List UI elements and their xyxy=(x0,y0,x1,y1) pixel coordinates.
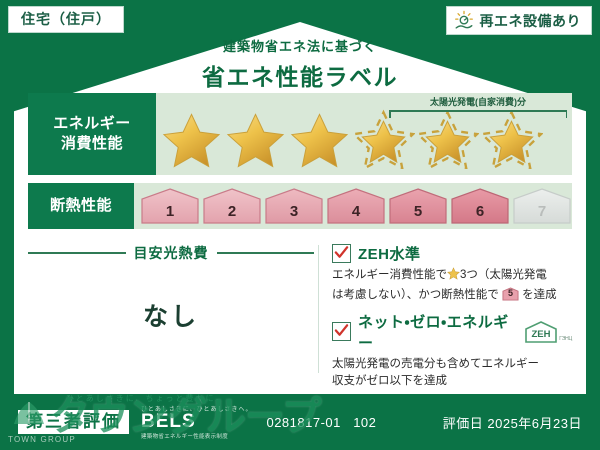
bels-logo-word: BELS xyxy=(141,413,252,431)
energy-performance-key: エネルギー 消費性能 xyxy=(28,93,156,175)
evaluation-date: 評価日 2025年6月23日 xyxy=(443,413,582,432)
energy-performance-row: エネルギー 消費性能 太陽光発電(自家消費)分 xyxy=(28,93,572,175)
checkbox-checked-icon xyxy=(332,322,351,341)
energy-key-line1: エネルギー xyxy=(53,114,131,134)
certificate-id: 0281817-01 102 xyxy=(266,415,376,430)
svg-text:ZEH: ZEH xyxy=(532,329,551,340)
criterion-description: 太陽光発電の売電分も含めてエネルギー収支がゼロ以下を達成 xyxy=(332,356,572,392)
energy-performance-label: 住宅（住戸） 再エネ設備あり 建築物省エネ法に基づく 省エネ性能ラベル xyxy=(0,0,600,450)
label-title-block: 建築物省エネ法に基づく 省エネ性能ラベル xyxy=(0,36,600,92)
energy-performance-value: 太陽光発電(自家消費)分 xyxy=(156,93,572,175)
utility-cost-heading: 目安光熱費 xyxy=(28,243,314,263)
insulation-level-number: 7 xyxy=(512,203,572,220)
building-type-tag: 住宅（住戸） xyxy=(8,6,124,33)
third-party-evaluation-badge: 第三者評価 xyxy=(18,410,129,434)
insulation-level-number: 2 xyxy=(202,203,262,220)
insulation-level-house: 4 xyxy=(326,188,386,224)
label-title: 省エネ性能ラベル xyxy=(0,58,600,92)
star-solar-dashed xyxy=(416,109,479,169)
label-subtitle: 建築物省エネ法に基づく xyxy=(0,36,600,55)
criterion-desc-line1: 太陽光発電の売電分も含めてエネルギー xyxy=(332,358,539,370)
utility-cost-value: なし xyxy=(28,297,314,333)
heading-rule-left xyxy=(28,252,126,254)
insulation-level-inline-badge: 5 xyxy=(502,287,519,301)
insulation-level-number: 6 xyxy=(450,203,510,220)
insulation-performance-value: 1 2 3 xyxy=(134,183,572,229)
insulation-level-house: 6 xyxy=(450,188,510,224)
renewable-energy-badge: 再エネ設備あり xyxy=(446,6,593,35)
heading-rule-right xyxy=(217,252,315,254)
insulation-level-scale: 1 2 3 xyxy=(140,188,572,224)
sun-solar-icon xyxy=(453,10,475,32)
criterion-desc-part1: エネルギー消費性能で xyxy=(332,269,447,281)
insulation-level-number: 3 xyxy=(264,203,324,220)
energy-key-line2: 消費性能 xyxy=(61,134,123,154)
insulation-performance-row: 断熱性能 1 xyxy=(28,183,572,229)
star-icon-inline xyxy=(447,271,460,283)
criterion-title: ネット・ゼロ・エネルギー xyxy=(358,311,515,353)
inline-house-number: 5 xyxy=(502,287,519,301)
criterion-net-zero-energy: ネット・ゼロ・エネルギー ZEH ГЭНЦ 太陽光発電の売電分も含めてエネルギー… xyxy=(332,311,572,392)
star-solar-dashed xyxy=(352,109,415,169)
utility-cost-block: 目安光熱費 なし xyxy=(28,243,314,391)
zeh-logo-subtext: ГЭНЦ xyxy=(559,336,572,344)
renewable-energy-badge-label: 再エネ設備あり xyxy=(480,11,582,31)
insulation-level-house: 2 xyxy=(202,188,262,224)
insulation-level-number: 4 xyxy=(326,203,386,220)
evaluation-date-label: 評価日 xyxy=(443,416,484,431)
star-filled xyxy=(288,109,351,169)
criteria-block: ZEH水準 エネルギー消費性能で3つ（太陽光発電は考慮しない）、かつ断熱性能で … xyxy=(314,243,572,391)
insulation-key-label: 断熱性能 xyxy=(50,196,112,216)
criterion-description: エネルギー消費性能で3つ（太陽光発電は考慮しない）、かつ断熱性能で 5 を達成 xyxy=(332,267,572,305)
vertical-divider xyxy=(318,245,319,373)
criterion-desc-part2: は考慮しない）、かつ断熱性能で xyxy=(332,289,499,301)
insulation-level-house: 5 xyxy=(388,188,448,224)
star-solar-dashed xyxy=(480,109,543,169)
insulation-level-house-inactive: 7 xyxy=(512,188,572,224)
insulation-level-house: 1 xyxy=(140,188,200,224)
criterion-title: ZEH水準 xyxy=(358,243,421,264)
star-filled xyxy=(224,109,287,169)
criterion-header: ネット・ゼロ・エネルギー ZEH ГЭНЦ xyxy=(332,311,572,353)
label-footer: 第三者評価 ひとあしさきに、ひとあしさきへ。 BELS 建築物省エネルギー性能表… xyxy=(0,394,600,450)
bels-logo: ひとあしさきに、ひとあしさきへ。 BELS 建築物省エネルギー性能表示制度 xyxy=(141,404,252,439)
insulation-level-number: 5 xyxy=(388,203,448,220)
performance-panel: エネルギー 消費性能 太陽光発電(自家消費)分 xyxy=(28,93,572,239)
zeh-logo-icon: ZEH ГЭНЦ xyxy=(524,320,572,344)
star-filled xyxy=(160,109,223,169)
criterion-header: ZEH水準 xyxy=(332,243,572,264)
bels-logo-tagline: 建築物省エネルギー性能表示制度 xyxy=(141,432,252,440)
evaluation-date-value: 2025年6月23日 xyxy=(487,416,582,431)
criterion-desc-part3: を達成 xyxy=(522,289,557,301)
insulation-level-house: 3 xyxy=(264,188,324,224)
criterion-desc-line2: 収支がゼロ以下を達成 xyxy=(332,375,447,387)
lower-section: 目安光熱費 なし ZEH水準 エネルギー消費性能で3つ（太陽光発電は考慮しない）… xyxy=(28,243,572,391)
utility-cost-heading-label: 目安光熱費 xyxy=(134,243,209,263)
criterion-desc-starcount: 3つ（太陽光発電 xyxy=(460,269,547,281)
energy-star-rating xyxy=(160,99,543,169)
insulation-performance-key: 断熱性能 xyxy=(28,183,134,229)
insulation-level-number: 1 xyxy=(140,203,200,220)
criterion-zeh-standard: ZEH水準 エネルギー消費性能で3つ（太陽光発電は考慮しない）、かつ断熱性能で … xyxy=(332,243,572,305)
checkbox-checked-icon xyxy=(332,244,351,263)
